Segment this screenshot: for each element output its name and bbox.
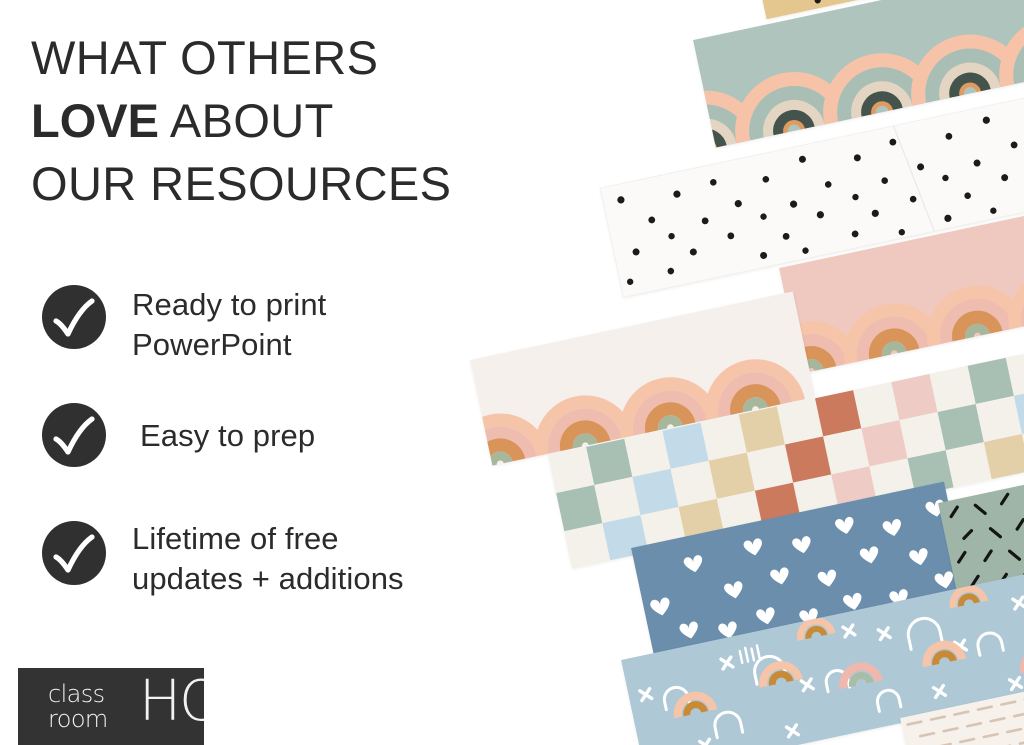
bullet-3-line-1: Lifetime of free	[132, 519, 404, 559]
list-item: Ready to print PowerPoint	[42, 283, 512, 401]
check-icon	[42, 521, 106, 585]
headline-line-1: WHAT OTHERS	[31, 26, 451, 89]
logo-word-top: class	[48, 682, 108, 707]
logo-wordmark: class room	[48, 682, 108, 732]
list-item: Lifetime of free updates + additions	[42, 519, 512, 637]
headline-line-2: LOVE ABOUT	[31, 89, 451, 152]
poster-canvas: WHAT OTHERS LOVE ABOUT OUR RESOURCES Rea…	[0, 0, 1024, 745]
benefit-list: Ready to print PowerPoint Easy to prep L	[42, 283, 512, 637]
logo-mark: HQ	[139, 674, 204, 730]
bullet-1-line-1: Ready to print	[132, 285, 326, 325]
headline-emphasis: LOVE	[31, 94, 159, 147]
bullet-2-line-1: Easy to prep	[140, 416, 315, 456]
check-icon	[42, 403, 106, 467]
list-item-label: Easy to prep	[140, 401, 315, 456]
headline-line-2-rest: ABOUT	[159, 94, 334, 147]
check-icon	[42, 285, 106, 349]
list-item: Easy to prep	[42, 401, 512, 519]
list-item-label: Lifetime of free updates + additions	[132, 519, 404, 599]
classroom-hq-logo: class room HQ	[18, 668, 204, 745]
bullet-3-line-2: updates + additions	[132, 559, 404, 599]
logo-word-bottom: room	[48, 707, 108, 732]
bullet-1-line-2: PowerPoint	[132, 325, 326, 365]
page-title: WHAT OTHERS LOVE ABOUT OUR RESOURCES	[31, 26, 451, 215]
headline-line-3: OUR RESOURCES	[31, 152, 451, 215]
list-item-label: Ready to print PowerPoint	[132, 283, 326, 365]
